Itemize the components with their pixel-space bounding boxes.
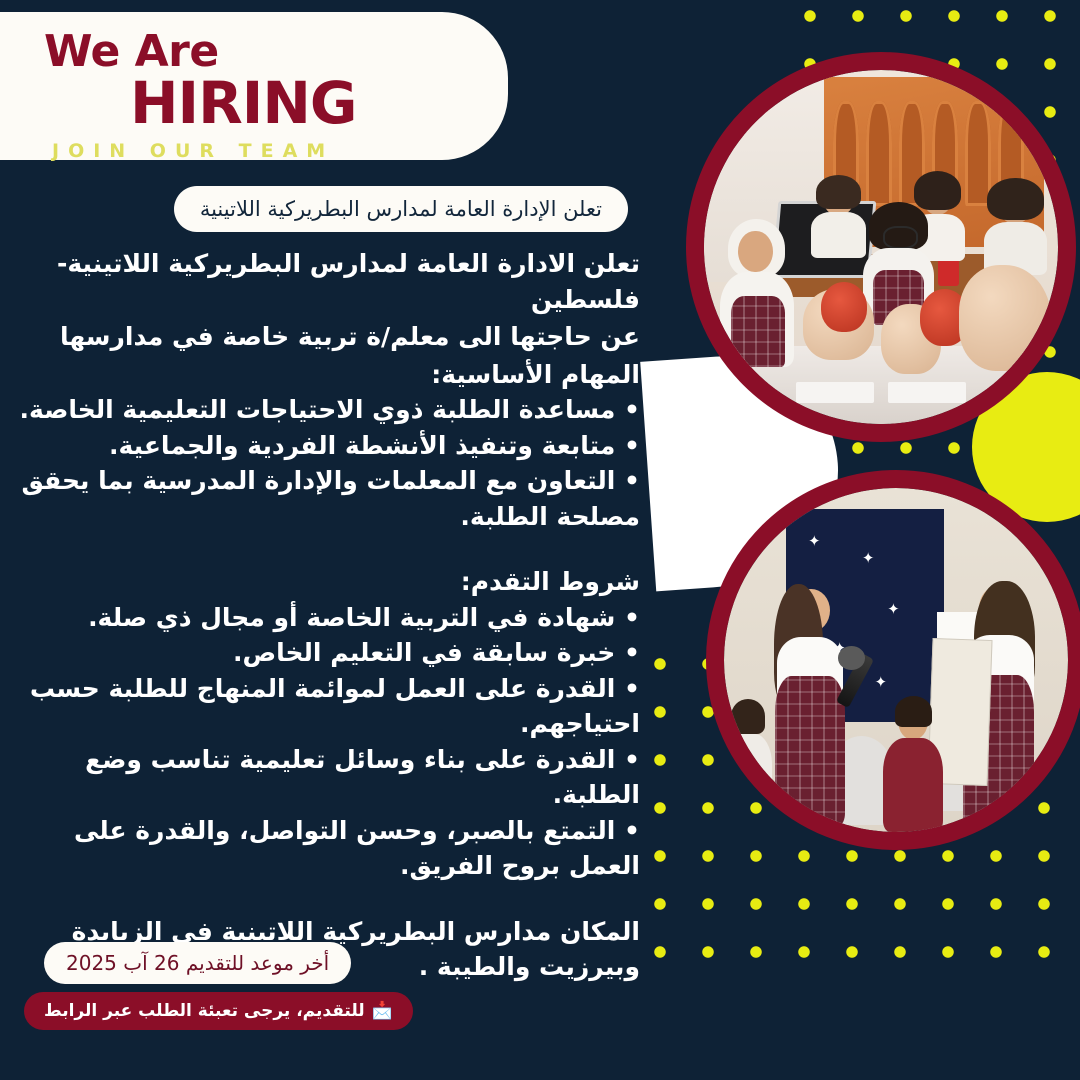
condition-item: • القدرة على العمل لموائمة المنهاج للطلب… — [0, 671, 640, 742]
hiring-title: HIRING — [130, 74, 357, 132]
condition-item: • خبرة سابقة في التعليم الخاص. — [0, 635, 640, 671]
apply-link-badge[interactable]: 📩 للتقديم، يرجى تعبئة الطلب عبر الرابط — [24, 992, 413, 1030]
task-item: • التعاون مع المعلمات والإدارة المدرسية … — [0, 463, 640, 534]
envelope-icon: 📩 — [372, 1003, 393, 1020]
condition-item: • التمتع بالصبر، وحسن التواصل، والقدرة ع… — [0, 813, 640, 884]
header-card: We Are HIRING JOIN OUR TEAM — [0, 12, 508, 160]
intro-line-1: تعلن الادارة العامة لمدارس البطريركية ال… — [0, 246, 640, 317]
we-are-text: We Are — [44, 30, 219, 74]
conditions-heading: شروط التقدم: — [0, 564, 640, 600]
join-our-team-tagline: JOIN OUR TEAM — [52, 142, 334, 161]
task-item: • مساعدة الطلبة ذوي الاحتياجات التعليمية… — [0, 392, 640, 428]
apply-badge-label: للتقديم، يرجى تعبئة الطلب عبر الرابط — [44, 1001, 365, 1021]
announcement-pill: تعلن الإدارة العامة لمدارس البطريركية ال… — [174, 186, 628, 232]
intro-line-2: عن حاجتها الى معلم/ة تربية خاصة في مدارس… — [0, 319, 640, 355]
condition-item: • القدرة على بناء وسائل تعليمية تناسب وض… — [0, 742, 640, 813]
condition-item: • شهادة في التربية الخاصة أو مجال ذي صلة… — [0, 600, 640, 636]
tasks-heading: المهام الأساسية: — [0, 357, 640, 393]
body-content: تعلن الادارة العامة لمدارس البطريركية ال… — [0, 246, 640, 985]
hiring-poster: ✦ ✦ ✦ ✦ ✦ — [0, 0, 1080, 1080]
deadline-badge: أخر موعد للتقديم 26 آب 2025 — [44, 942, 351, 984]
task-item: • متابعة وتنفيذ الأنشطة الفردية والجماعي… — [0, 428, 640, 464]
photo-science-lab — [686, 52, 1076, 442]
photo-student-presentation: ✦ ✦ ✦ ✦ ✦ — [706, 470, 1080, 850]
